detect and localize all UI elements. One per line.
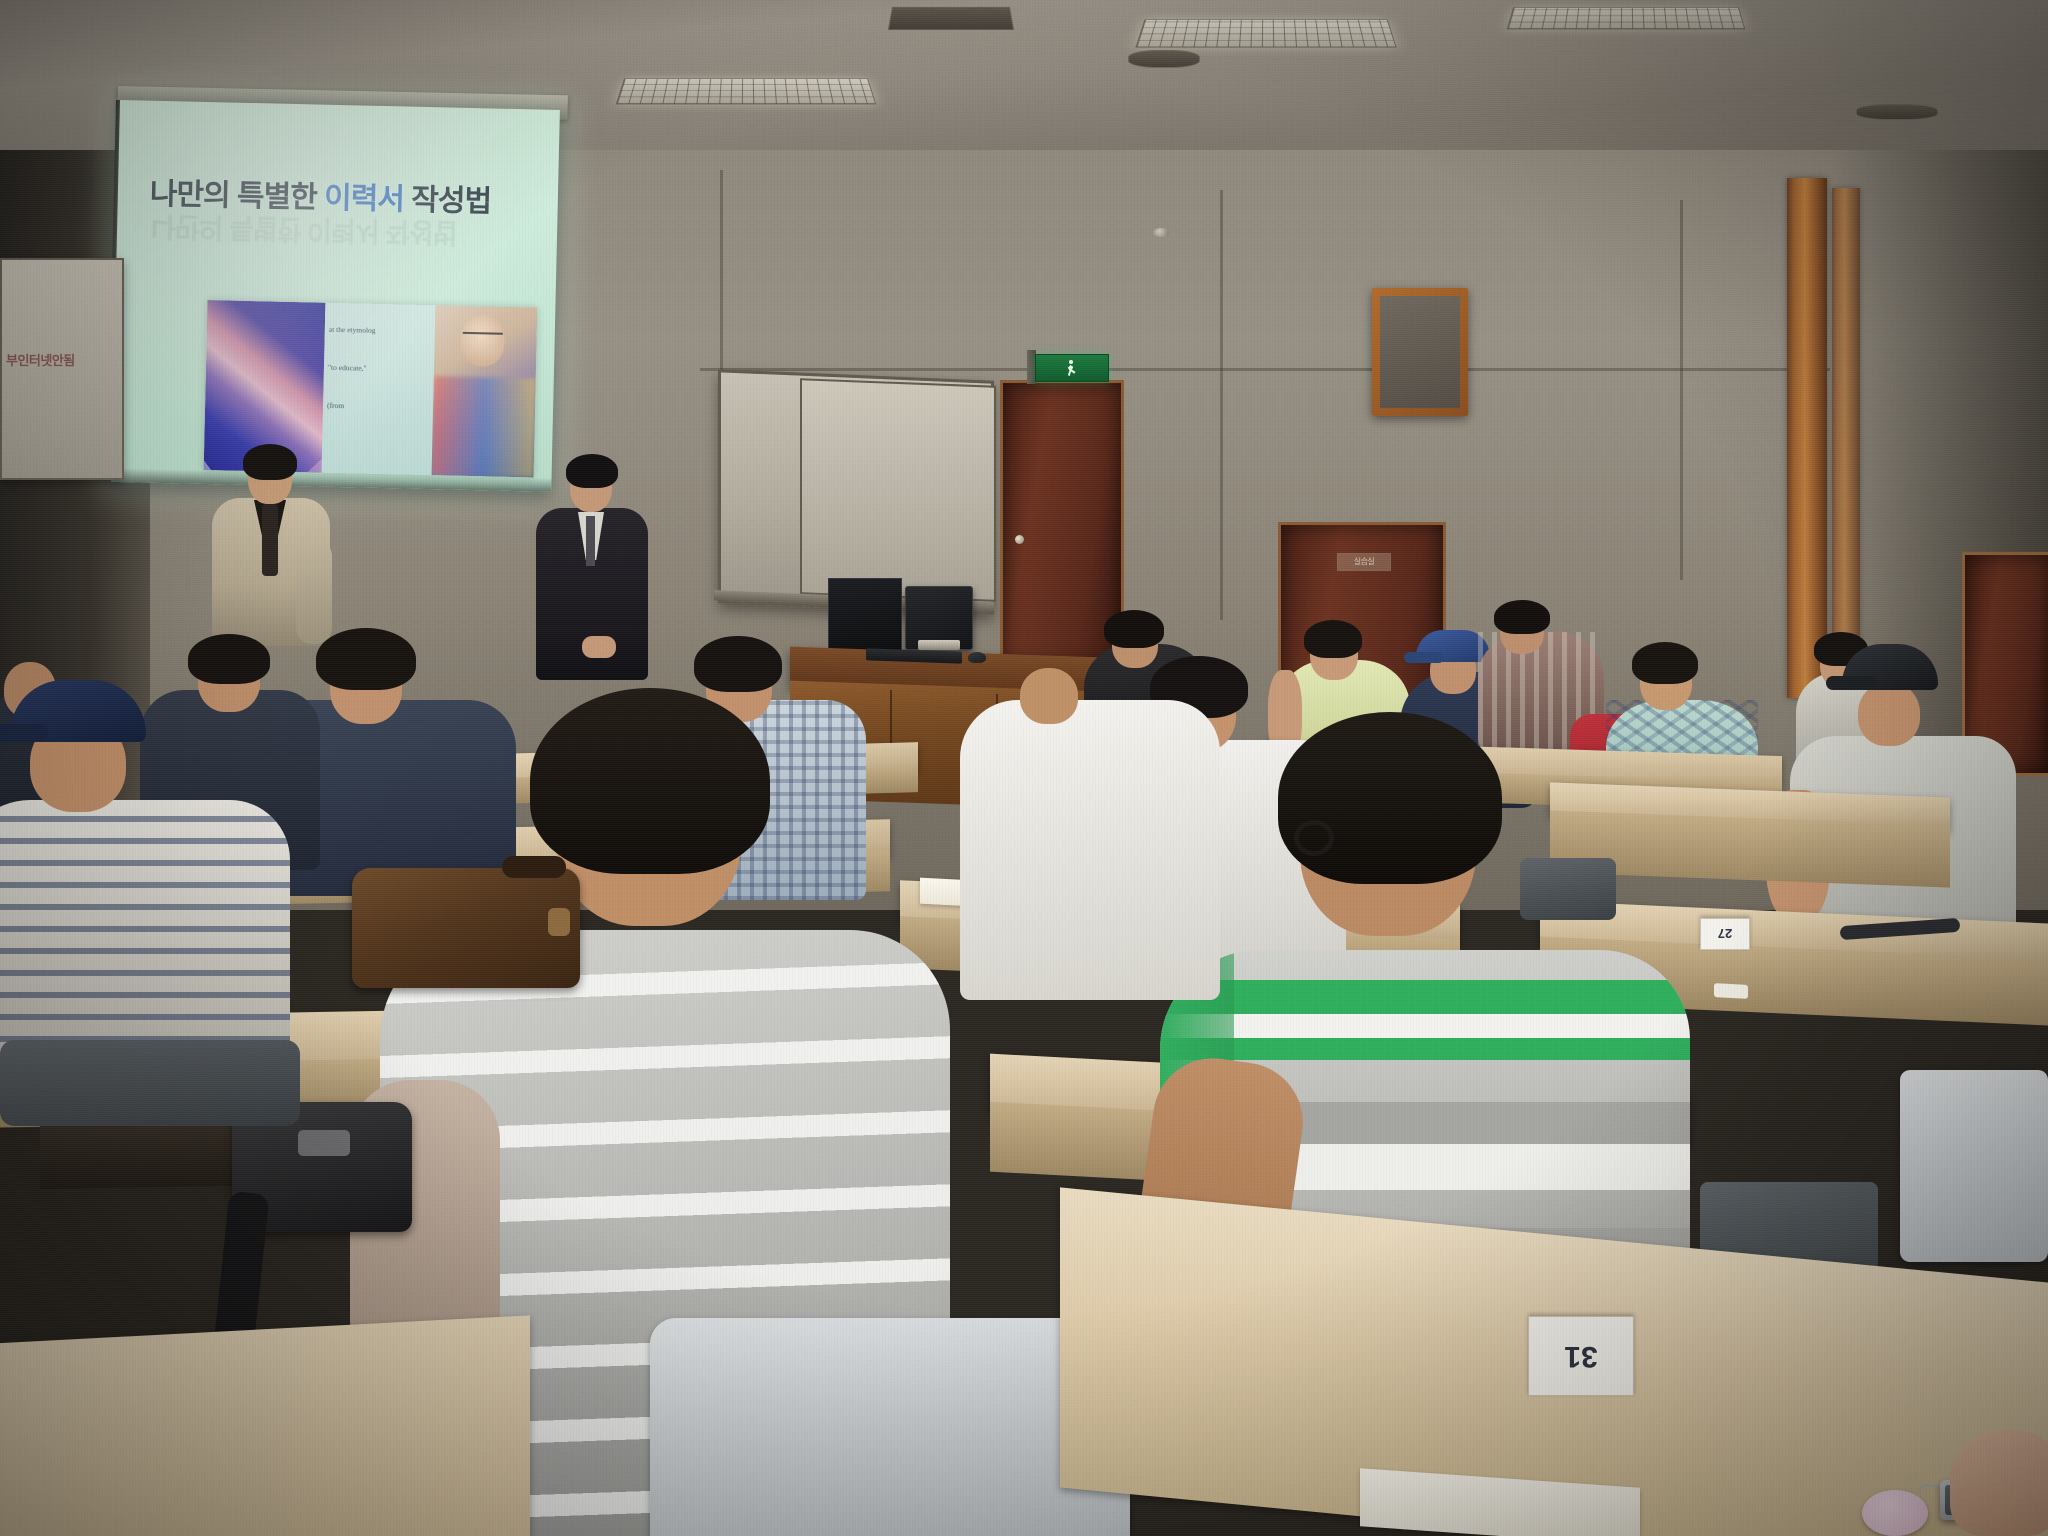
slide-title-part2: 작성법 [404,183,492,218]
seat-placard-31: 31 [1528,1316,1634,1396]
slide-eng-line-1: at the etymolog [329,325,432,338]
emergency-exit-icon [1035,354,1109,382]
seat-placard-27-number: 27 [1718,927,1732,942]
ceiling-vent-1 [888,7,1014,30]
ceiling-light-panel-3 [1507,7,1746,29]
presenter-1-arm [296,540,332,644]
front-whiteboard-right-panel [800,378,996,602]
ceiling-light-panel-1 [616,78,877,104]
computer-tower [828,578,902,656]
ceiling-grille [1137,20,1396,47]
wall-picture-frame [1372,288,1468,416]
student-13-head [1858,682,1920,746]
student-8-stripe-green-2 [1160,1038,1690,1060]
slide-eng-line-3: (from [327,401,430,414]
student-6-hair [694,636,782,692]
running-person-icon [1066,360,1078,376]
student-6b-hair [1632,642,1698,684]
lecture-room-photo: 나만의 특별한 이력서 작성법 나만의 특별한 이력서 작성법 at the e… [0,0,2048,1536]
chair-left-1[interactable] [0,1040,300,1126]
seat-placard-31-number: 31 [1564,1339,1597,1373]
wall-seam-3 [1680,200,1683,580]
left-board-notice: 부인터넷안됨 [6,346,118,372]
ceiling-vent-3 [1856,104,1938,120]
student-8-hair [1278,712,1502,884]
student-8-stripe-white-1 [1160,1014,1690,1038]
mouse-icon [968,652,986,663]
slide-eng-line-2: "to educate," [328,363,431,376]
student-8-stripe-green-1 [1160,980,1690,1014]
desk-foreground-left-bottom [0,1315,530,1536]
student-9-hair [1304,620,1362,658]
wall-seam-2 [1220,190,1223,620]
slide-portrait-glasses-icon [463,332,503,344]
slide-title-reflection: 나만의 특별한 이력서 작성법 [151,209,542,257]
student-3b-hair [188,634,270,684]
student-13-cap-brim [1826,676,1878,690]
bag-buckle-icon [548,908,570,936]
hand-holding-phone [1950,1430,2048,1536]
wood-pilaster-2 [1832,188,1860,668]
slide-image-portrait [432,305,538,477]
brown-leather-bag [352,868,580,988]
chair-right-1[interactable] [1900,1070,2048,1262]
smoke-detector-icon [1153,228,1169,237]
student-10-cap-brim [1404,652,1444,663]
monitor-stand [918,640,960,650]
student-8-glasses-icon [1294,820,1334,856]
student-4-hair [1104,610,1164,648]
student-2-body [960,700,1220,1000]
student-1-stripes [0,800,290,1070]
student-1-cap-brim [0,724,48,742]
student-12-hair [1494,600,1550,634]
bag-strap [502,856,566,878]
student-1-body [0,800,290,1070]
presenter-2-hands [582,636,616,658]
chair-foreground-center[interactable] [650,1318,1130,1536]
left-whiteboard: 부인터넷안됨 [0,258,124,480]
slide-image-english-text: at the etymolog "to educate," (from [322,303,436,475]
ceiling-vent-2 [1128,50,1200,68]
wall-picture-inner [1380,296,1460,408]
wall-seam-horizontal [700,368,1830,371]
presenter-2-tie [586,516,595,566]
door-plate: 실습실 [1337,553,1391,571]
chair-mid-right[interactable] [1520,858,1616,920]
ceiling-light-panel-2 [1135,19,1396,47]
ceiling-grille [1508,8,1744,29]
phone-charm [1862,1490,1928,1536]
ceiling-grille [617,79,875,104]
camera-bag-buckle-icon [298,1130,350,1156]
door-knob-icon[interactable] [1015,535,1024,544]
student-2-head [1020,668,1078,724]
presenter-1-hair [243,444,297,480]
student-3-hair [316,628,416,690]
student-5-hair [530,688,770,874]
seat-placard-27: 27 [1700,918,1750,950]
presenter-1-tie [262,504,278,576]
wood-pilaster-1 [1787,178,1827,698]
slide-title-accent: 이력서 [324,182,405,217]
projection-screen: 나만의 특별한 이력서 작성법 나만의 특별한 이력서 작성법 at the e… [111,100,560,492]
presenter-2-hair [566,454,618,488]
eraser-item [1714,983,1748,999]
